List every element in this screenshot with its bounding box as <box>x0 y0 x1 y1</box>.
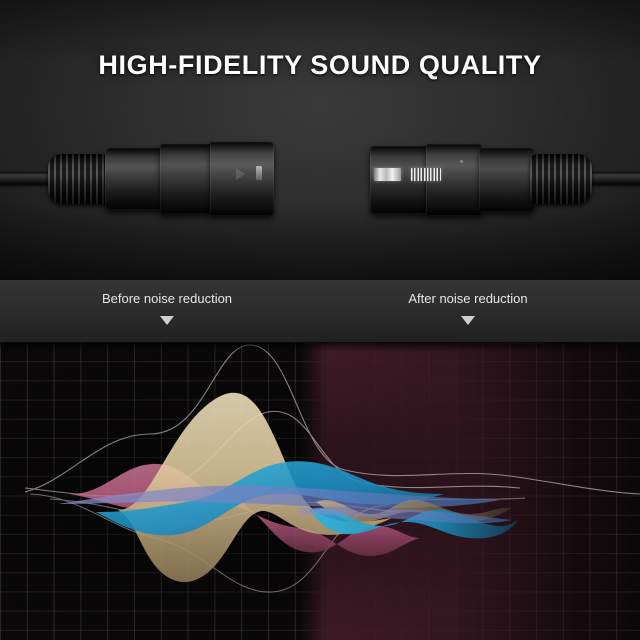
hero-section: HIGH-FIDELITY SOUND QUALITY <box>0 0 640 280</box>
after-label: After noise reduction <box>348 291 588 306</box>
comparison-label-band: Before noise reduction After noise reduc… <box>0 280 640 342</box>
male-connector-arrow-mark-icon <box>236 168 245 180</box>
female-connector-ribbed-highlight <box>411 168 441 181</box>
cable-wire-right <box>586 172 640 185</box>
female-connector-pin-dot <box>460 160 463 163</box>
wave-top-shadow <box>0 342 640 352</box>
male-connector-body <box>160 144 212 214</box>
waveform-visualization <box>0 342 640 640</box>
xlr-cable-photo <box>0 120 640 250</box>
before-label: Before noise reduction <box>47 291 287 306</box>
male-connector-collar <box>105 148 163 210</box>
before-pointer-triangle-icon <box>160 316 174 325</box>
waveform-curves <box>0 342 640 640</box>
after-pointer-triangle-icon <box>461 316 475 325</box>
cable-wire-left <box>0 172 54 185</box>
female-connector-latch-highlight <box>374 168 401 181</box>
male-connector-notch <box>256 166 262 180</box>
band-sheen <box>0 280 640 342</box>
strain-relief-boot-right <box>530 154 592 204</box>
page-title: HIGH-FIDELITY SOUND QUALITY <box>0 50 640 81</box>
product-marketing-image: HIGH-FIDELITY SOUND QUALITY Before noise… <box>0 0 640 640</box>
strain-relief-boot-left <box>48 154 110 204</box>
female-connector-rear <box>479 148 535 212</box>
